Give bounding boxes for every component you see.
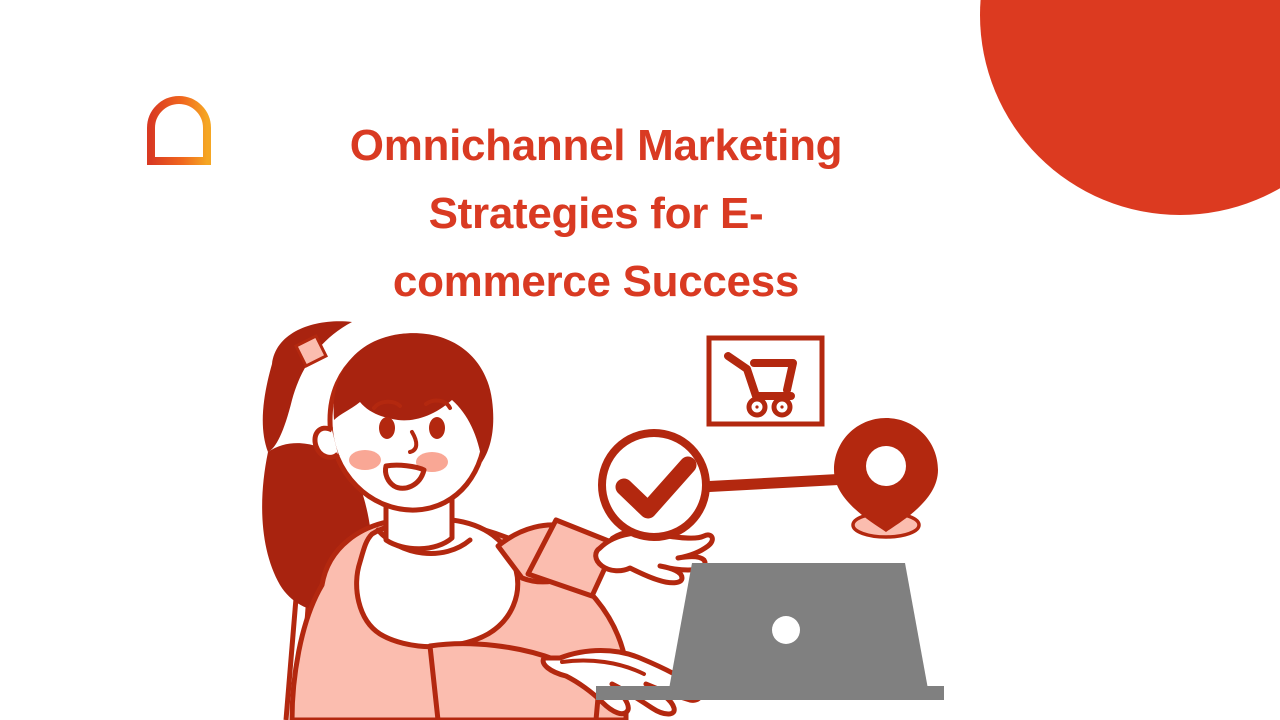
illustration	[0, 0, 1280, 720]
shopping-cart-framed-icon	[709, 338, 822, 424]
slide-canvas: Omnichannel Marketing Strategies for E- …	[0, 0, 1280, 720]
location-pin-icon	[834, 418, 938, 537]
checkmark-circle-icon	[602, 433, 706, 537]
